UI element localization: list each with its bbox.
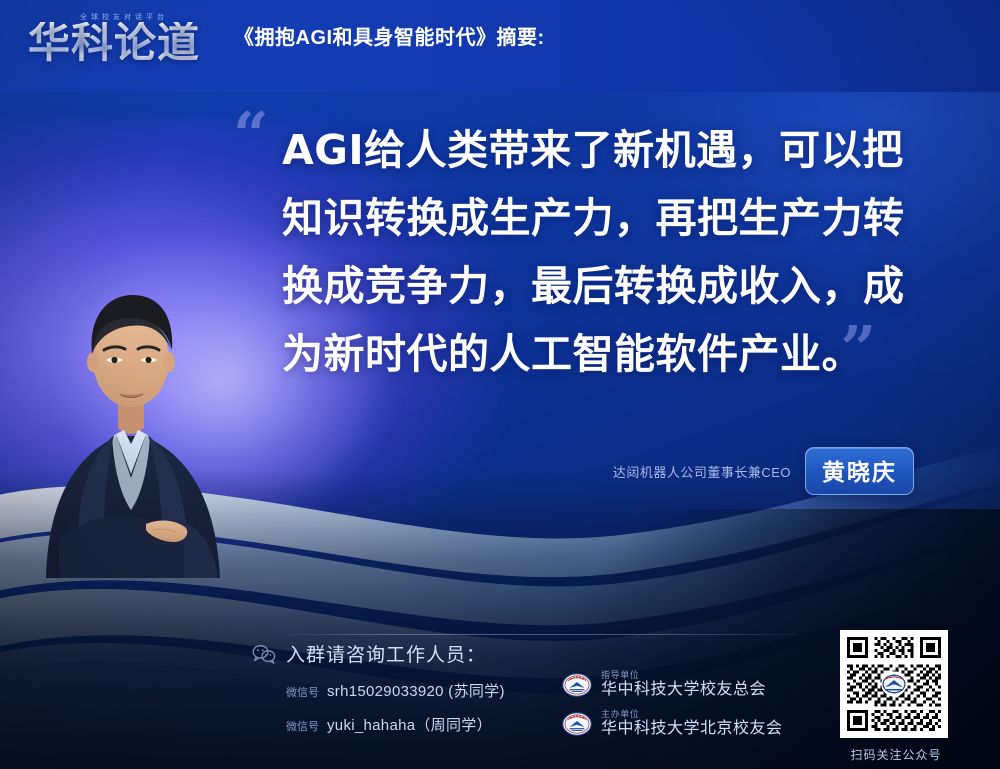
speaker-role: 达闼机器人公司董事长兼CEO: [613, 462, 791, 481]
contact-row: 微信号 yuki_hahaha（周同学）: [252, 714, 552, 735]
header: 全球校友对话平台 华科论道 《拥抱AGI和具身智能时代》摘要:: [28, 8, 545, 64]
contact-title: 入群请咨询工作人员：: [286, 640, 486, 667]
contact-block: 入群请咨询工作人员： 微信号 srh15029033920 (苏同学) 微信号 …: [252, 640, 552, 735]
qr-caption: 扫码关注公众号: [840, 746, 952, 763]
page-title: 《拥抱AGI和具身智能时代》摘要:: [234, 21, 545, 64]
organization-text: 指导单位 华中科技大学校友总会: [601, 671, 766, 699]
quote-close-icon: ”: [840, 318, 876, 380]
quote-line: 知识转换成生产力，再把生产力转: [282, 184, 942, 252]
qr-code-image: [840, 630, 948, 738]
contact-label: 微信号: [286, 684, 319, 700]
wechat-icon: [252, 644, 276, 664]
qr-block: 扫码关注公众号: [840, 630, 952, 763]
attribution: 达闼机器人公司董事长兼CEO 黄晓庆: [613, 447, 914, 495]
organization-row: 主办单位 华中科技大学北京校友会: [562, 709, 783, 739]
organization-text: 主办单位 华中科技大学北京校友会: [601, 710, 783, 738]
quote-line: AGI给人类带来了新机遇，可以把: [282, 116, 942, 184]
brand-logo[interactable]: 全球校友对话平台 华科论道: [28, 8, 220, 64]
organization-row: 指导单位 华中科技大学校友总会: [562, 670, 783, 700]
organization-name: 华中科技大学校友总会: [601, 682, 766, 699]
contact-label: 微信号: [286, 718, 319, 734]
contact-row: 微信号 srh15029033920 (苏同学): [252, 680, 552, 701]
status-badge: 黄晓庆: [805, 447, 914, 495]
poster: 全球校友对话平台 华科论道 《拥抱AGI和具身智能时代》摘要: “ AGI给人类…: [0, 0, 1000, 769]
speaker-portrait: [34, 278, 252, 578]
contact-value: yuki_hahaha（周同学）: [327, 714, 492, 735]
organizations: 指导单位 华中科技大学校友总会 主办单位 华中科技大学北京校友会: [562, 670, 783, 748]
hust-seal-icon: [562, 670, 592, 700]
logo-tagline: 全球校友对话平台: [80, 12, 168, 22]
divider: [288, 634, 798, 635]
organization-name: 华中科技大学北京校友会: [601, 721, 783, 738]
logo-text: 华科论道: [28, 22, 220, 64]
hust-seal-icon: [562, 709, 592, 739]
organization-label: 指导单位: [601, 671, 766, 680]
quote-line: 换成竞争力，最后转换成收入，成: [282, 252, 942, 320]
contact-value: srh15029033920 (苏同学): [327, 680, 505, 701]
contact-header: 入群请咨询工作人员：: [252, 640, 552, 667]
quote-open-icon: “: [233, 104, 269, 166]
organization-label: 主办单位: [601, 710, 783, 719]
